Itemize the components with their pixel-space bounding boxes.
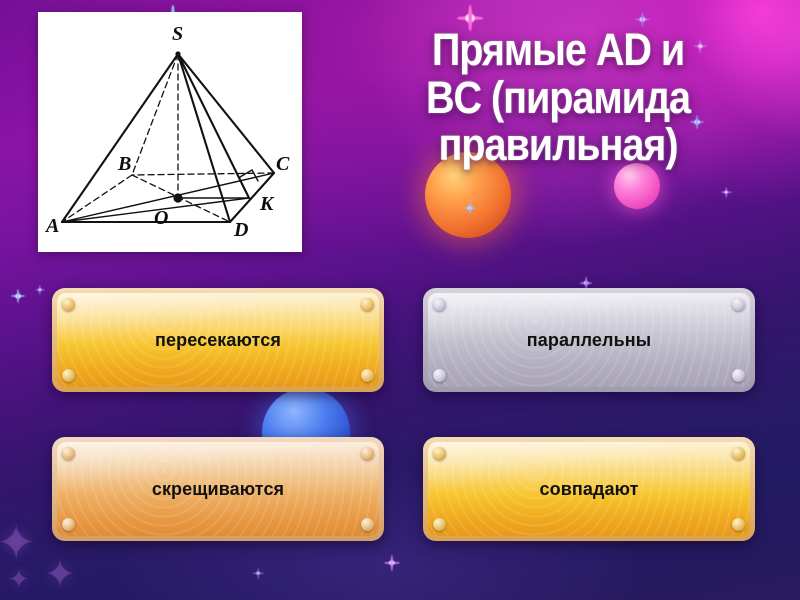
label-D: D <box>233 219 248 241</box>
answer-label-2: параллельны <box>527 330 651 351</box>
sparkle-star <box>457 5 483 31</box>
label-O: O <box>154 207 168 229</box>
answer-button-2[interactable]: параллельны <box>423 288 755 392</box>
sparkle-star <box>721 187 732 198</box>
decor-star-large: ✦ <box>44 556 76 594</box>
corner-stud-icon <box>361 447 374 460</box>
corner-stud-icon <box>433 447 446 460</box>
corner-stud-icon <box>361 518 374 531</box>
quiz-slide: ✦ ✦ ✦ <box>0 0 800 600</box>
label-S: S <box>172 23 183 45</box>
nebula-glow-right <box>690 0 800 140</box>
edge-SA <box>62 54 178 222</box>
sparkle-star <box>635 12 650 27</box>
question-title: Прямые AD и BC (пирамида правильная) <box>359 26 757 169</box>
corner-stud-icon <box>62 369 75 382</box>
label-B: B <box>117 153 131 175</box>
decor-star-large: ✦ <box>0 520 36 568</box>
orange-planet <box>425 152 511 238</box>
answer-face: скрещиваются <box>57 442 379 536</box>
edge-SK <box>178 54 249 198</box>
answer-face: параллельны <box>428 293 750 387</box>
pink-planet <box>614 163 660 209</box>
answer-face: пересекаются <box>57 293 379 387</box>
answer-face: совпадают <box>428 442 750 536</box>
answer-button-1[interactable]: пересекаются <box>52 288 384 392</box>
corner-stud-icon <box>732 369 745 382</box>
corner-stud-icon <box>62 447 75 460</box>
label-C: C <box>276 153 290 175</box>
pyramid-diagram: S B C A D O K <box>38 12 302 252</box>
sparkle-star <box>464 202 476 214</box>
sparkle-star <box>690 115 704 129</box>
sparkle-star <box>11 289 25 303</box>
corner-stud-icon <box>433 518 446 531</box>
corner-stud-icon <box>361 369 374 382</box>
sparkle-star <box>694 40 707 53</box>
label-A: A <box>44 215 59 237</box>
edge-SD <box>178 54 230 222</box>
answer-label-1: пересекаются <box>155 330 281 351</box>
corner-stud-icon <box>62 518 75 531</box>
answer-label-3: скрещиваются <box>152 479 284 500</box>
label-K: K <box>259 193 275 215</box>
edge-SC <box>178 54 274 173</box>
edge-SB-hidden <box>132 54 178 175</box>
edge-CB-hidden <box>132 173 274 175</box>
answer-button-3[interactable]: скрещиваются <box>52 437 384 541</box>
corner-stud-icon <box>732 447 745 460</box>
sparkle-star <box>253 568 264 579</box>
corner-stud-icon <box>433 369 446 382</box>
corner-stud-icon <box>62 298 75 311</box>
corner-stud-icon <box>433 298 446 311</box>
sparkle-star <box>384 555 400 571</box>
answer-button-4[interactable]: совпадают <box>423 437 755 541</box>
corner-stud-icon <box>361 298 374 311</box>
decor-star-small: ✦ <box>8 566 30 592</box>
point-O <box>173 193 182 202</box>
sparkle-star <box>35 285 45 295</box>
pyramid-svg: S B C A D O K <box>44 18 296 246</box>
corner-stud-icon <box>732 518 745 531</box>
point-S <box>175 51 180 56</box>
nebula-glow-center <box>300 0 720 130</box>
corner-stud-icon <box>732 298 745 311</box>
answer-label-4: совпадают <box>539 479 638 500</box>
